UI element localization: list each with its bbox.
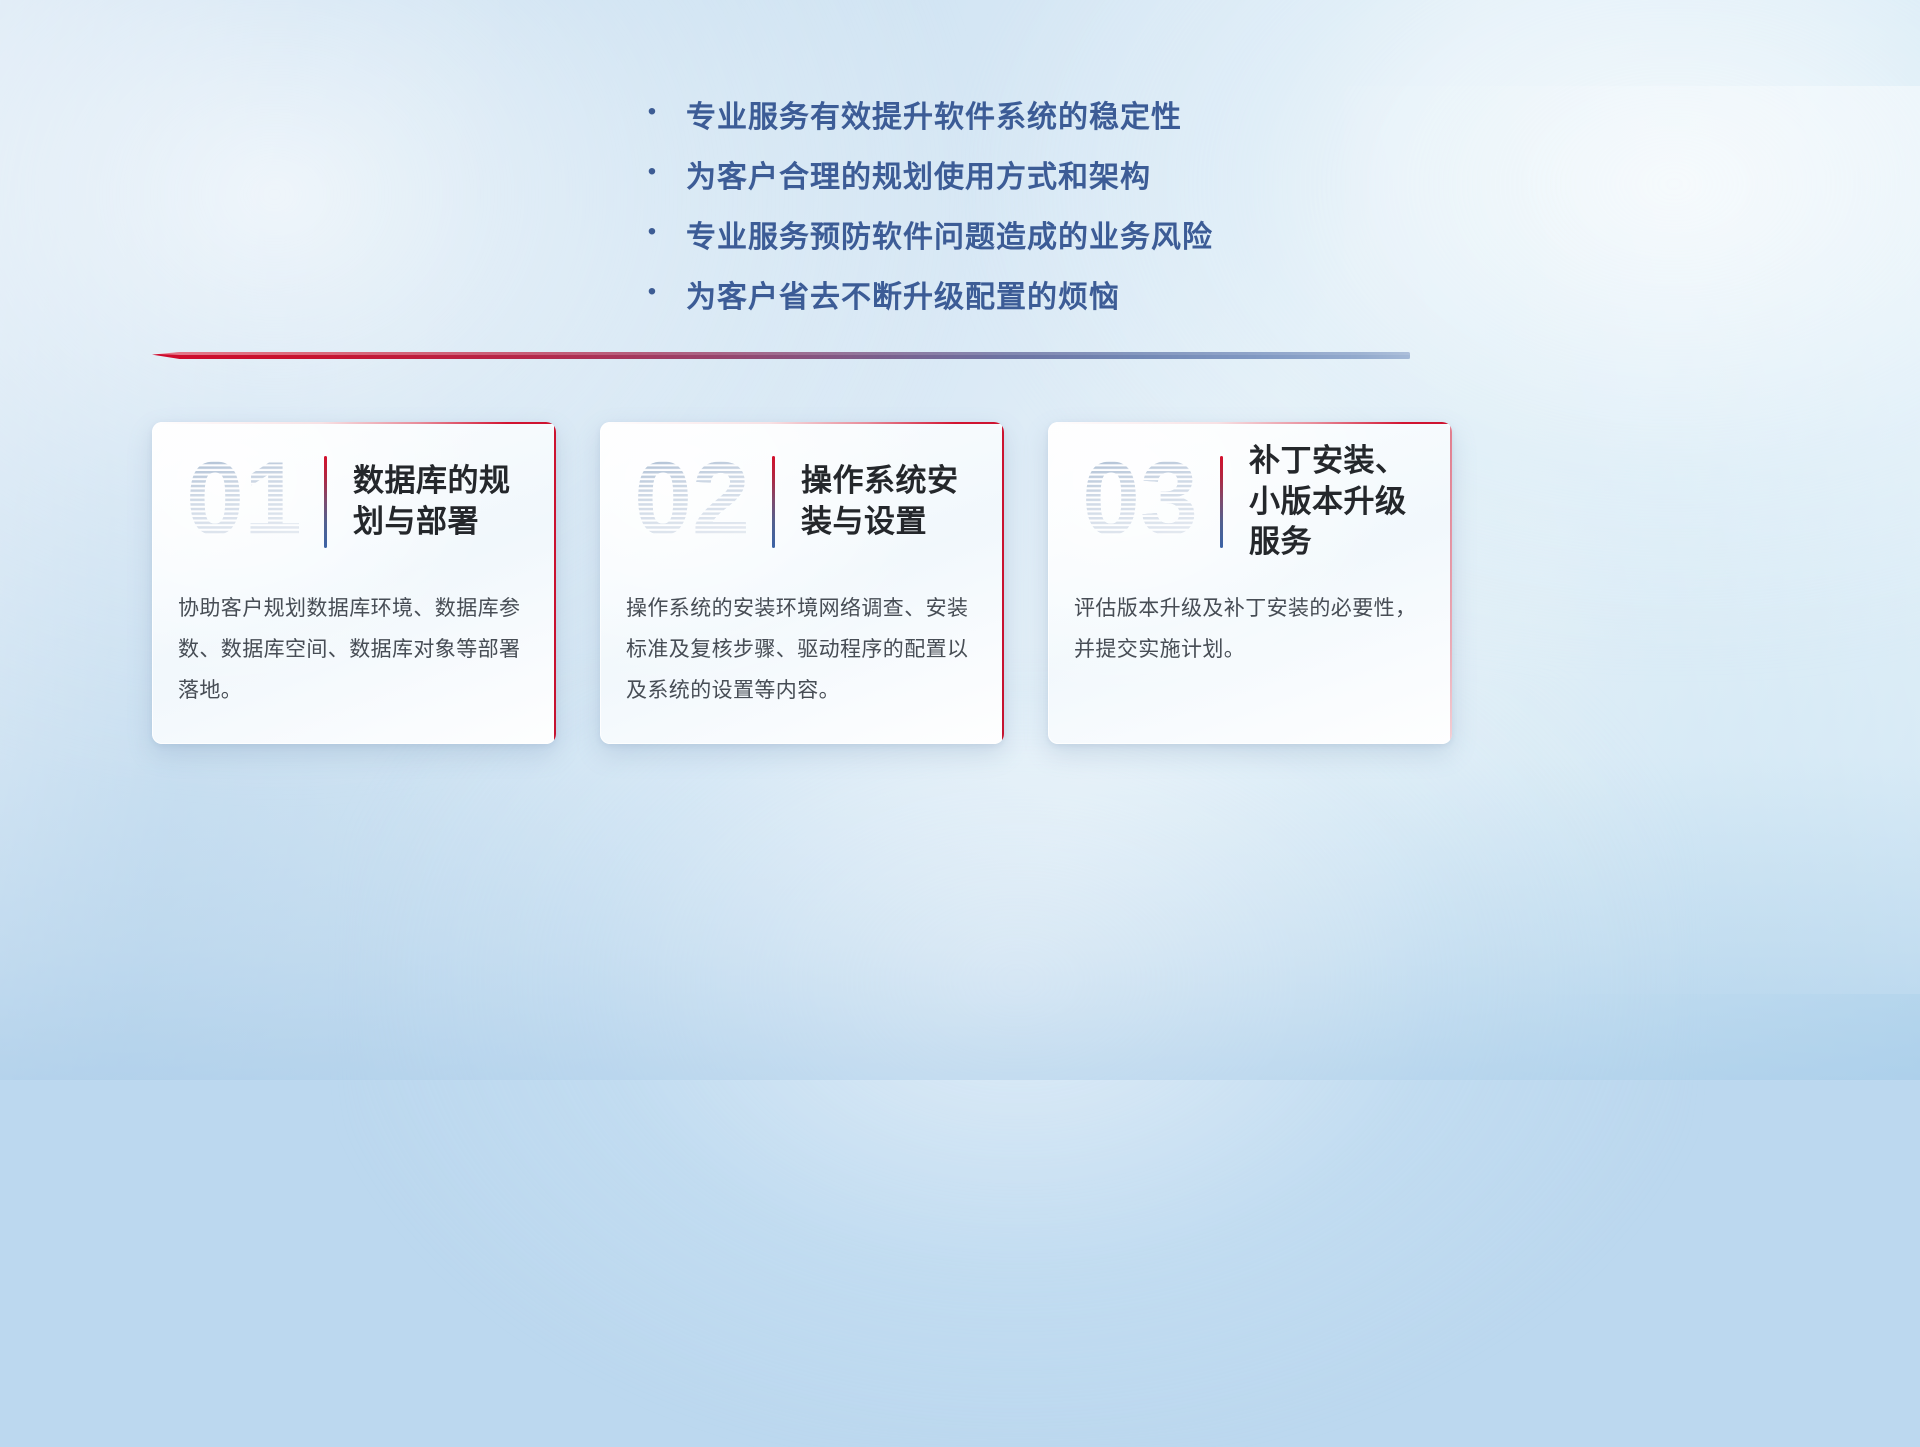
card-description: 协助客户规划数据库环境、数据库参数、数据库空间、数据库对象等部署落地。	[152, 582, 556, 711]
card-number-striped: 03 03	[1074, 448, 1206, 556]
card-description: 评估版本升级及补丁安装的必要性，并提交实施计划。	[1048, 582, 1452, 670]
card-header: 03 03 补丁安装、小版本升级服务	[1048, 422, 1452, 582]
card-accent-bar	[1220, 456, 1223, 548]
divider-highlight	[152, 352, 1410, 355]
background-bottom-shade	[0, 756, 1920, 1080]
card-title: 操作系统安装与设置	[801, 461, 982, 543]
svg-text:01: 01	[186, 448, 302, 556]
section-divider	[152, 348, 1410, 362]
card-accent-bar	[772, 456, 775, 548]
card-title: 补丁安装、小版本升级服务	[1249, 441, 1430, 564]
card-accent-bar	[324, 456, 327, 548]
svg-text:02: 02	[634, 448, 750, 556]
service-card[interactable]: 03 03 补丁安装、小版本升级服务 评估版本升级及补丁安装的必要性，并提交实施…	[1048, 422, 1452, 744]
service-card[interactable]: 01 01 数据库的规划与部署 协助客户规划数据库环境、数据库参数、数据库空间、…	[152, 422, 556, 744]
card-number-striped: 02 02	[626, 448, 758, 556]
card-number-striped: 01 01	[178, 448, 310, 556]
card-header: 01 01 数据库的规划与部署	[152, 422, 556, 582]
card-header: 02 02 操作系统安装与设置	[600, 422, 1004, 582]
card-description: 操作系统的安装环境网络调查、安装标准及复核步骤、驱动程序的配置以及系统的设置等内…	[600, 582, 1004, 711]
card-title: 数据库的规划与部署	[353, 461, 534, 543]
service-card-list: 01 01 数据库的规划与部署 协助客户规划数据库环境、数据库参数、数据库空间、…	[152, 422, 1452, 744]
service-card[interactable]: 02 02 操作系统安装与设置 操作系统的安装环境网络调查、安装标准及复核步骤、…	[600, 422, 1004, 744]
svg-text:03: 03	[1082, 448, 1198, 556]
